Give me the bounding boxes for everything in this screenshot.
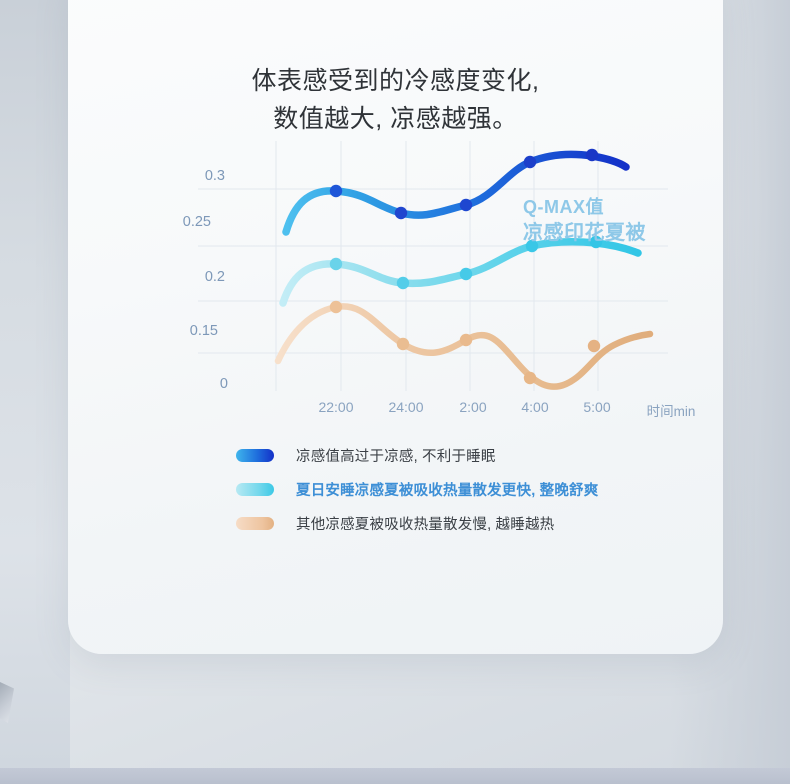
y-tick-3: 0.15 — [158, 323, 218, 339]
x-tick-1: 24:00 — [371, 399, 441, 415]
legend-label-blue: 凉感值高过于凉感, 不利于睡眠 — [296, 445, 496, 466]
y-tick-4: 0 — [168, 376, 228, 392]
x-tick-2: 2:00 — [438, 399, 508, 415]
annotation-line1: Q-MAX值 — [523, 194, 646, 220]
legend-item: 夏日安睡凉感夏被吸收热量散发更快, 整晚舒爽 — [236, 476, 716, 503]
series-points-orange — [330, 301, 600, 384]
x-tick-0: 22:00 — [301, 399, 371, 415]
annotation-line2: 凉感印花夏被 — [523, 220, 646, 246]
legend-swatch-orange — [236, 517, 274, 530]
legend-item: 其他凉感夏被吸收热量散发慢, 越睡越热 — [236, 510, 716, 537]
y-tick-0: 0.3 — [165, 168, 225, 184]
chart-annotation: Q-MAX值 凉感印花夏被 — [523, 194, 646, 246]
legend-swatch-blue — [236, 449, 274, 462]
y-tick-2: 0.2 — [165, 269, 225, 285]
page-title-line2: 数值越大, 凉感越强。 — [68, 100, 723, 138]
cooling-line-chart: 0.3 0.25 0.2 0.15 0 22:00 24:00 2:00 4:0… — [198, 141, 728, 431]
legend-label-cyan: 夏日安睡凉感夏被吸收热量散发更快, 整晚舒爽 — [296, 479, 598, 500]
series-line-orange — [278, 301, 650, 387]
content-card: 体表感受到的冷感度变化, 数值越大, 凉感越强。 — [68, 0, 723, 654]
y-tick-1: 0.25 — [151, 214, 211, 230]
legend-swatch-cyan — [236, 483, 274, 496]
legend-item: 凉感值高过于凉感, 不利于睡眠 — [236, 442, 716, 469]
x-axis-unit-label: 时间min — [626, 400, 716, 420]
page-title-line1: 体表感受到的冷感度变化, — [68, 62, 723, 100]
page-title: 体表感受到的冷感度变化, 数值越大, 凉感越强。 — [68, 62, 723, 138]
x-tick-3: 4:00 — [500, 399, 570, 415]
background-left-panel — [0, 0, 70, 784]
chart-legend: 凉感值高过于凉感, 不利于睡眠 夏日安睡凉感夏被吸收热量散发更快, 整晚舒爽 其… — [236, 442, 716, 544]
x-tick-4: 5:00 — [562, 399, 632, 415]
legend-label-orange: 其他凉感夏被吸收热量散发慢, 越睡越热 — [296, 513, 554, 534]
chart-svg — [198, 141, 728, 431]
background-bottom-strip — [0, 768, 790, 784]
